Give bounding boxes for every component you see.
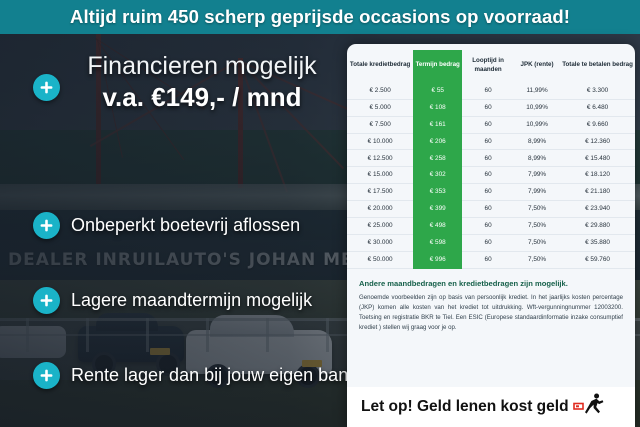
table-cell: € 161: [413, 116, 462, 133]
table-row: € 5.000€ 1086010,99%€ 6.480: [347, 99, 635, 116]
table-row: € 7.500€ 1616010,99%€ 9.660: [347, 116, 635, 133]
table-row: € 17.500€ 353607,99%€ 21.180: [347, 184, 635, 201]
bullet-item-2: Lagere maandtermijn mogelijk: [33, 287, 312, 314]
table-row: € 10.000€ 206608,99%€ 12.360: [347, 133, 635, 150]
left-content-column: Financieren mogelijk v.a. €149,- / mnd O…: [0, 34, 345, 427]
table-cell: € 59.760: [560, 251, 635, 268]
table-cell: € 498: [413, 217, 462, 234]
table-cell: 60: [462, 167, 514, 184]
column-header-apr: JPK (rente): [514, 50, 560, 83]
table-cell: € 10.000: [347, 133, 413, 150]
table-cell: 60: [462, 217, 514, 234]
table-cell: € 21.180: [560, 184, 635, 201]
table-cell: € 18.120: [560, 167, 635, 184]
table-cell: 60: [462, 83, 514, 99]
table-row: € 30.000€ 598607,50%€ 35.880: [347, 234, 635, 251]
table-cell: 60: [462, 133, 514, 150]
table-row: € 12.500€ 258608,99%€ 15.480: [347, 150, 635, 167]
table-cell: € 3.300: [560, 83, 635, 99]
plus-icon: [33, 287, 60, 314]
promo-banner: DEALER INRUILAUTO'S JOHAN MEURE ALTIJD 4…: [0, 0, 640, 427]
column-header-total-credit: Totale kredietbedrag: [347, 50, 413, 83]
top-banner-text: Altijd ruim 450 scherp geprijsde occasio…: [70, 6, 570, 28]
table-cell: € 7.500: [347, 116, 413, 133]
walking-person-icon: [585, 393, 605, 422]
table-cell: 60: [462, 99, 514, 116]
table-cell: 60: [462, 234, 514, 251]
table-cell: 7,50%: [514, 251, 560, 268]
headline-line-1: Financieren mogelijk: [62, 52, 342, 80]
headline-line-2: v.a. €149,- / mnd: [62, 82, 342, 113]
credit-table: Totale kredietbedrag Termijn bedrag Loop…: [347, 50, 635, 269]
disclaimer-body: Genoemde voorbeelden zijn op basis van p…: [359, 293, 623, 332]
table-cell: € 353: [413, 184, 462, 201]
table-cell: € 15.480: [560, 150, 635, 167]
table-cell: 8,99%: [514, 150, 560, 167]
table-cell: € 6.480: [560, 99, 635, 116]
table-cell: € 399: [413, 201, 462, 218]
legal-warning-text: Let op! Geld lenen kost geld: [361, 398, 569, 416]
table-cell: 7,99%: [514, 167, 560, 184]
table-cell: € 17.500: [347, 184, 413, 201]
bullet-item-3: Rente lager dan bij jouw eigen bank: [33, 362, 357, 389]
table-row: € 15.000€ 302607,99%€ 18.120: [347, 167, 635, 184]
disclaimer-title: Andere maandbedragen en kredietbedragen …: [359, 279, 623, 289]
credit-table-card: Totale kredietbedrag Termijn bedrag Loop…: [347, 44, 635, 427]
top-banner-strip: Altijd ruim 450 scherp geprijsde occasio…: [0, 0, 640, 34]
red-door-icon: [573, 398, 584, 416]
table-cell: 7,50%: [514, 201, 560, 218]
table-cell: € 598: [413, 234, 462, 251]
table-cell: € 15.000: [347, 167, 413, 184]
table-cell: 11,99%: [514, 83, 560, 99]
legal-warning-bar: Let op! Geld lenen kost geld: [347, 387, 635, 427]
table-cell: € 35.880: [560, 234, 635, 251]
table-cell: € 20.000: [347, 201, 413, 218]
column-header-duration: Looptijd in maanden: [462, 50, 514, 83]
plus-icon: [33, 212, 60, 239]
bullet-label: Rente lager dan bij jouw eigen bank: [71, 366, 357, 386]
table-body: € 2.500€ 556011,99%€ 3.300€ 5.000€ 10860…: [347, 83, 635, 268]
table-cell: 7,99%: [514, 184, 560, 201]
plus-icon: [33, 74, 60, 101]
table-cell: 60: [462, 201, 514, 218]
table-cell: € 12.360: [560, 133, 635, 150]
warning-icon-group: [573, 393, 605, 422]
table-cell: € 55: [413, 83, 462, 99]
disclaimer-block: Andere maandbedragen en kredietbedragen …: [347, 269, 635, 333]
table-cell: € 302: [413, 167, 462, 184]
table-cell: € 2.500: [347, 83, 413, 99]
table-cell: 10,99%: [514, 116, 560, 133]
table-cell: € 108: [413, 99, 462, 116]
plus-icon: [33, 362, 60, 389]
table-cell: € 50.000: [347, 251, 413, 268]
table-cell: € 996: [413, 251, 462, 268]
table-row: € 2.500€ 556011,99%€ 3.300: [347, 83, 635, 99]
column-header-total-payable: Totale te betalen bedrag: [560, 50, 635, 83]
table-cell: 8,99%: [514, 133, 560, 150]
table-cell: € 206: [413, 133, 462, 150]
table-cell: € 9.660: [560, 116, 635, 133]
bullet-label: Onbeperkt boetevrij aflossen: [71, 216, 300, 236]
table-cell: € 258: [413, 150, 462, 167]
table-cell: 60: [462, 251, 514, 268]
table-header-row: Totale kredietbedrag Termijn bedrag Loop…: [347, 50, 635, 83]
table-cell: € 30.000: [347, 234, 413, 251]
table-row: € 25.000€ 498607,50%€ 29.880: [347, 217, 635, 234]
table-cell: € 5.000: [347, 99, 413, 116]
table-cell: € 23.940: [560, 201, 635, 218]
column-header-monthly-amount: Termijn bedrag: [413, 50, 462, 83]
table-cell: 7,50%: [514, 217, 560, 234]
table-cell: 60: [462, 184, 514, 201]
table-cell: € 25.000: [347, 217, 413, 234]
headline-block: Financieren mogelijk v.a. €149,- / mnd: [62, 52, 342, 113]
bullet-label: Lagere maandtermijn mogelijk: [71, 291, 312, 311]
table-cell: 60: [462, 150, 514, 167]
bullet-item-1: Onbeperkt boetevrij aflossen: [33, 212, 300, 239]
table-cell: € 29.880: [560, 217, 635, 234]
table-row: € 20.000€ 399607,50%€ 23.940: [347, 201, 635, 218]
table-cell: 7,50%: [514, 234, 560, 251]
table-cell: € 12.500: [347, 150, 413, 167]
table-cell: 10,99%: [514, 99, 560, 116]
table-cell: 60: [462, 116, 514, 133]
table-row: € 50.000€ 996607,50%€ 59.760: [347, 251, 635, 268]
